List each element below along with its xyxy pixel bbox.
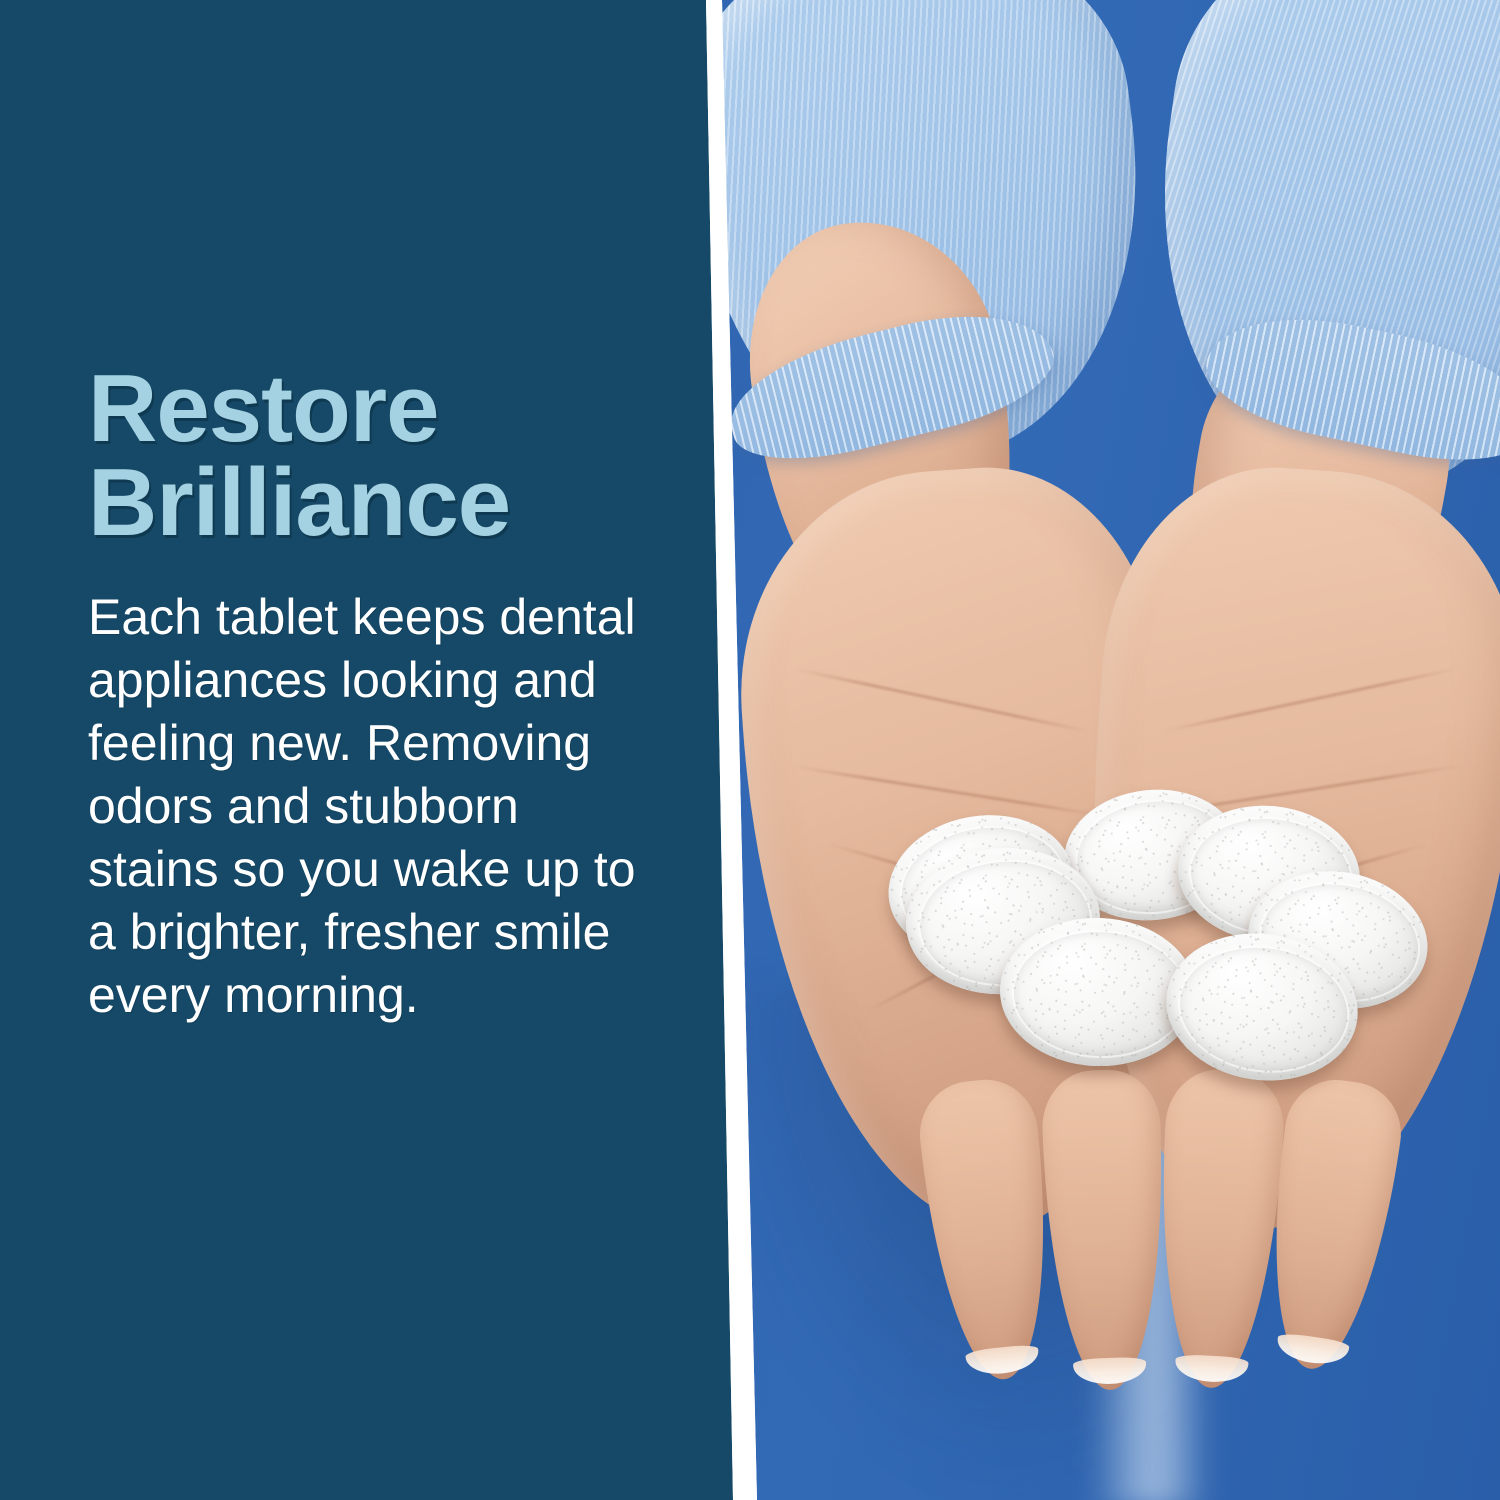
page-title: Restore Brilliance [88, 362, 668, 550]
tablet-rim [1009, 927, 1190, 1061]
palm-crease [795, 668, 1091, 734]
copy-block: Restore Brilliance Each tablet keeps den… [88, 362, 668, 1027]
palm-crease [792, 765, 1108, 818]
body-description: Each tablet keeps dental appliances look… [88, 550, 658, 1027]
palm-crease [1162, 667, 1458, 733]
advertisement-canvas: Restore Brilliance Each tablet keeps den… [0, 0, 1500, 1500]
